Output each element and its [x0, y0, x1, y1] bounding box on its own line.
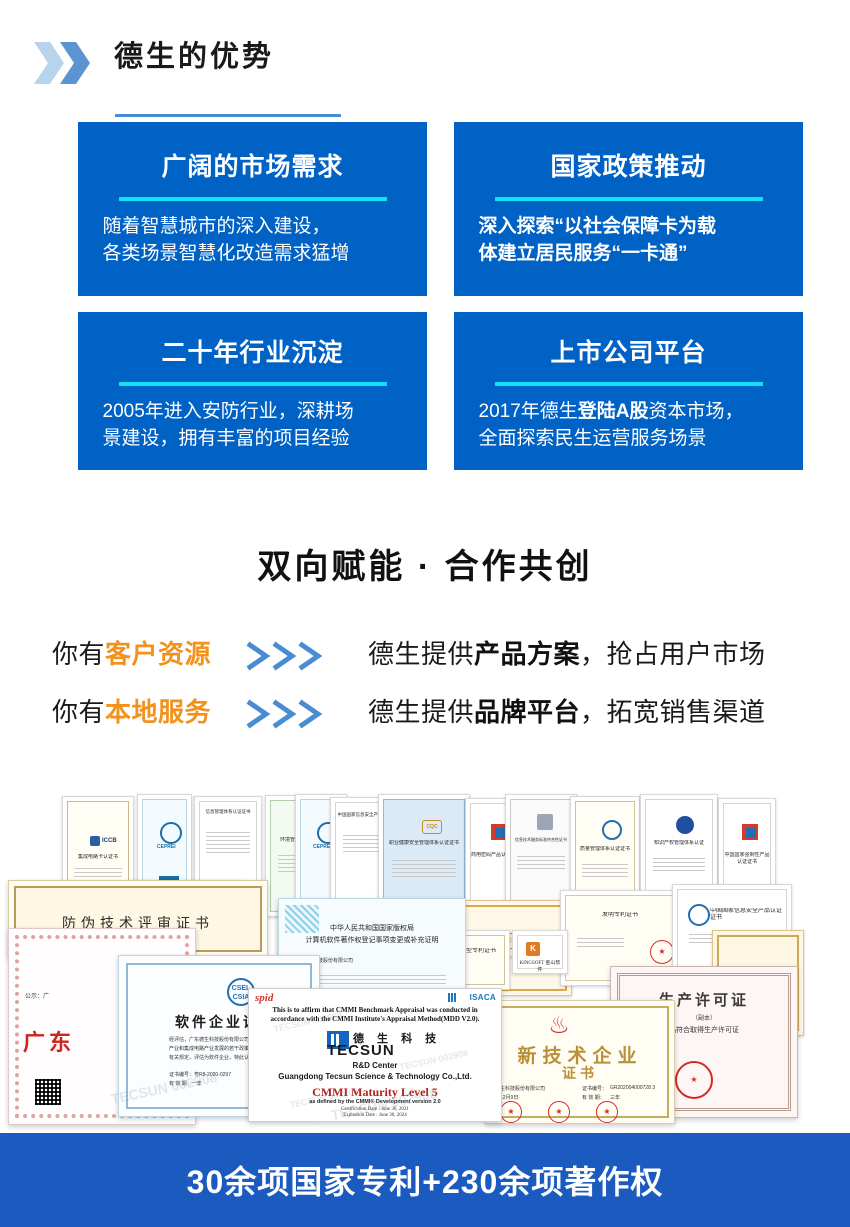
cmmi-dates: Certification Date : June 30, 2021 Expir… — [249, 1107, 501, 1119]
card-body-line-1-c: 资本市场， — [649, 401, 744, 422]
cmmi-affirm-line-1: This is to affirm that CMMI Benchmark Ap… — [257, 1006, 493, 1015]
value-row-local-service: 你有本地服务 德生提供品牌平台，拓宽销售渠道 — [0, 686, 850, 744]
official-seal-icon — [500, 1101, 522, 1123]
certificate-collage: ICCB 集成电路卡认证书 CEPREI ANAB 信息管理体系认证证书 CQC — [0, 780, 850, 1133]
card-body: 随着智慧城市的深入建设， 各类场景智慧化改造需求猛增 — [103, 213, 403, 267]
chevron-group-icon — [34, 42, 100, 84]
value-proposition-rows: 你有客户资源 德生提供产品方案，抢占用户市场 你有本地服务 德生提供品牌平台，拓… — [0, 628, 850, 744]
certificate-label: 中国国家强制性产品认证证书 — [724, 852, 770, 866]
card-body-line-1-a: 2017年德生 — [479, 401, 578, 422]
certificate-label: 集成电路卡认证书 — [68, 854, 128, 861]
card-accent-rule — [495, 382, 763, 386]
certificate-line-2: 计算机软件著作权登记事项变更或补充证明 — [279, 935, 465, 945]
cmmi-maturity-level: CMMI Maturity Level 5 — [249, 1085, 501, 1100]
certificate-title: 广东 — [23, 1025, 75, 1057]
value-row-right-suffix: ，抢占用户市场 — [580, 639, 766, 669]
isaca-mark-icon — [448, 993, 457, 1002]
value-row-left-highlight: 客户资源 — [105, 639, 211, 669]
advantage-card-industry-experience[interactable]: 二十年行业沉淀 2005年进入安防行业，深耕场 景建设，拥有丰富的项目经验 — [78, 312, 427, 470]
value-row-left-prefix: 你有 — [52, 697, 105, 727]
tecsun-name-en: TECSUN — [327, 1042, 395, 1059]
card-body-line-1: 深入探索“以社会保障卡为载 — [479, 213, 779, 240]
card-body-line-2: 体建立居民服务“一卡通” — [479, 240, 779, 267]
certificate-label: KINGSOFT 金山软件 — [518, 960, 562, 974]
card-body-line-1: 2005年进入安防行业，深耕场 — [103, 398, 403, 425]
value-row-right-prefix: 德生提供 — [368, 639, 474, 669]
certificate-high-tech-enterprise[interactable]: ♨ 新技术企业 证书 生科技股份有限公司 证书编号： 12月9日 有 效 期： … — [485, 1000, 675, 1124]
advantage-card-grid: 广阔的市场需求 随着智慧城市的深入建设， 各类场景智慧化改造需求猛增 国家政策推… — [0, 122, 850, 470]
bottom-banner: 30余项国家专利+230余项著作权 — [0, 1133, 850, 1227]
value-row-left: 你有客户资源 — [52, 628, 211, 686]
card-body-line-1: 随着智慧城市的深入建设， — [103, 213, 403, 240]
value-row-right-emphasis: 品牌平台 — [474, 697, 580, 727]
value-row-right-prefix: 德生提供 — [368, 697, 474, 727]
value-row-left-prefix: 你有 — [52, 639, 105, 669]
certificate-label: 知识产权管理体系认证 — [646, 840, 712, 847]
advantage-card-market-demand[interactable]: 广阔的市场需求 随着智慧城市的深入建设， 各类场景智慧化改造需求猛增 — [78, 122, 427, 296]
card-body-line-1-emphasis: 登陆A股 — [578, 401, 649, 422]
section-underline — [115, 114, 341, 117]
empower-heading: 双向赋能 · 合作共创 — [0, 544, 850, 590]
card-accent-rule — [119, 382, 387, 386]
value-row-customer-resources: 你有客户资源 德生提供产品方案，抢占用户市场 — [0, 628, 850, 686]
cmmi-defined-by: as defined by the CMMI® Development vers… — [249, 1099, 501, 1105]
certificate-cert-no-label: 证书编号： — [582, 1085, 607, 1092]
cmmi-company-full: Guangdong Tecsun Science & Technology Co… — [249, 1072, 501, 1081]
card-accent-rule — [495, 197, 763, 201]
certificate-label: 发明专利证书 — [566, 912, 674, 919]
section-header: 德生的优势 — [0, 36, 850, 92]
badge-line-2: CSIA — [233, 994, 250, 1001]
card-body: 深入探索“以社会保障卡为载 体建立居民服务“一卡通” — [479, 213, 779, 267]
certificate-note: 公示：广 — [25, 991, 49, 1000]
cmmi-rd-center: R&D Center — [249, 1061, 501, 1070]
card-body-line-2: 各类场景智慧化改造需求猛增 — [103, 240, 403, 267]
certificate-date: 12月9日 — [500, 1094, 518, 1101]
cmmi-affirmation: This is to affirm that CMMI Benchmark Ap… — [257, 1006, 493, 1024]
certificate-valid-value: 三年 — [610, 1094, 620, 1101]
card-body-line-2: 全面探索民生运营服务场景 — [479, 425, 779, 452]
advantage-card-national-policy[interactable]: 国家政策推动 深入探索“以社会保障卡为载 体建立居民服务“一卡通” — [454, 122, 803, 296]
value-row-right-emphasis: 产品方案 — [474, 639, 580, 669]
card-body: 2005年进入安防行业，深耕场 景建设，拥有丰富的项目经验 — [103, 398, 403, 452]
value-row-right: 德生提供产品方案，抢占用户市场 — [368, 628, 766, 686]
official-seal-icon — [675, 1061, 713, 1099]
certificate-thumb[interactable]: K KINGSOFT 金山软件 — [512, 930, 568, 974]
triple-chevron-right-icon — [244, 640, 340, 672]
bottom-banner-text: 30余项国家专利+230余项著作权 — [187, 1157, 664, 1203]
value-row-left-highlight: 本地服务 — [105, 697, 211, 727]
certificate-label: 职业健康安全管理体系认证证书 — [384, 840, 464, 847]
value-row-right-suffix: ，拓宽销售渠道 — [580, 697, 766, 727]
certificate-line-1: 中华人民共和国国家版权局 — [279, 923, 465, 933]
flame-emblem-icon: ♨ — [548, 1013, 570, 1039]
cmmi-affirm-line-2: accordance with the CMMI Institute's App… — [257, 1015, 493, 1024]
triple-chevron-right-icon — [244, 698, 340, 730]
certificate-label: 信息技术服务标准符合性证书 — [511, 836, 571, 843]
card-body-line-1: 2017年德生登陆A股资本市场， — [479, 398, 779, 425]
card-title: 上市公司平台 — [454, 312, 803, 368]
card-title: 国家政策推动 — [454, 122, 803, 182]
cmmi-expiration-date: Expiration Date : June 30, 2024 — [249, 1113, 501, 1119]
certificate-cmmi-level-5[interactable]: spid ISACA This is to affirm that CMMI B… — [248, 988, 502, 1122]
certificate-label: 质量管理体系认证证书 — [576, 846, 634, 853]
page-root: 德生的优势 广阔的市场需求 随着智慧城市的深入建设， 各类场景智慧化改造需求猛增… — [0, 0, 850, 1227]
spid-logo: spid — [255, 992, 273, 1004]
card-title: 广阔的市场需求 — [78, 122, 427, 182]
advantage-card-listed-company[interactable]: 上市公司平台 2017年德生登陆A股资本市场， 全面探索民生运营服务场景 — [454, 312, 803, 470]
card-accent-rule — [119, 197, 387, 201]
official-seal-icon — [596, 1101, 618, 1123]
section-title: 德生的优势 — [114, 34, 274, 80]
official-seal-icon — [548, 1101, 570, 1123]
chevron-right-dark-icon — [60, 42, 90, 84]
card-body-line-2: 景建设，拥有丰富的项目经验 — [103, 425, 403, 452]
isaca-logo: ISACA — [470, 993, 496, 1002]
value-row-left: 你有本地服务 — [52, 686, 211, 744]
certificate-subtitle: 证书 — [486, 1063, 674, 1083]
card-title: 二十年行业沉淀 — [78, 312, 427, 368]
certificate-company: 生科技股份有限公司 — [500, 1085, 545, 1092]
certificate-label: 信息管理体系认证证书 — [200, 808, 256, 815]
value-row-right: 德生提供品牌平台，拓宽销售渠道 — [368, 686, 766, 744]
certificate-label: 中国国家信息安全产品认证证书 — [710, 908, 786, 922]
card-body: 2017年德生登陆A股资本市场， 全面探索民生运营服务场景 — [479, 398, 779, 452]
certificate-cert-no: GR202004000728 3 — [610, 1085, 655, 1091]
certificate-valid: 有 效 期： — [582, 1094, 605, 1101]
